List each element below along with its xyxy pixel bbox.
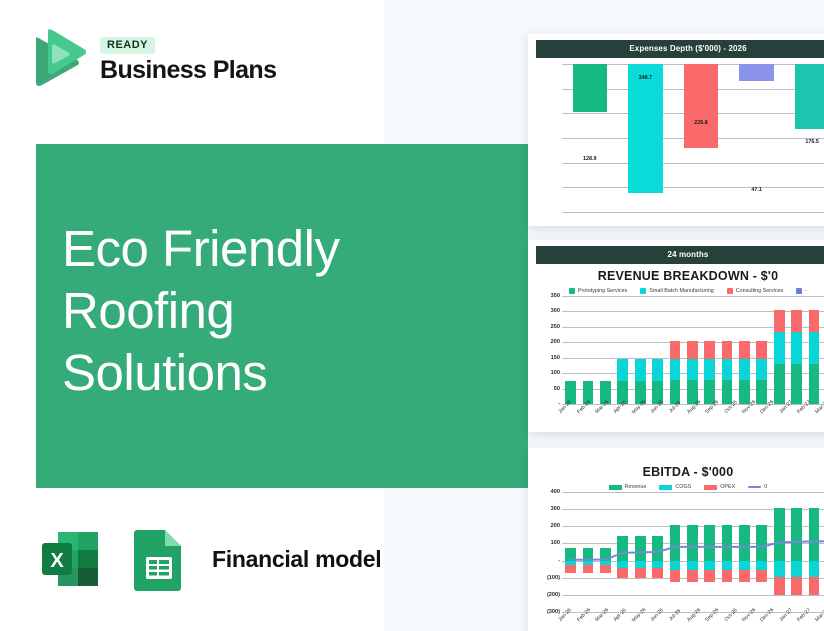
bar-slot[interactable] [701, 296, 718, 404]
play-triangle-logo-icon [26, 28, 86, 92]
bar[interactable] [795, 64, 824, 129]
stacked-bar[interactable] [583, 296, 594, 404]
x-axis-tick: Dec-26 [756, 404, 774, 430]
bar-segment[interactable] [565, 565, 576, 572]
x-axis-tick: Apr-26 [609, 612, 627, 631]
poster-root: READY Business Plans Eco Friendly Roofin… [0, 0, 824, 631]
bar-slot[interactable]: 348.7 [618, 64, 674, 212]
stacked-bar[interactable] [565, 296, 576, 404]
bar-segment[interactable] [635, 561, 646, 568]
bar-value-label: 176.5 [805, 139, 819, 145]
page-title-line-1: Eco Friendly [62, 218, 482, 280]
x-axis-tick: Feb-27 [793, 612, 811, 631]
y-axis-tick: - [558, 558, 560, 564]
y-axis-tick: 150 [551, 355, 560, 361]
bar-segment[interactable] [722, 359, 733, 380]
bar-slot[interactable] [788, 296, 805, 404]
brand-logo-area[interactable]: READY Business Plans [26, 28, 276, 92]
bar[interactable] [628, 64, 662, 193]
stacked-bar[interactable] [635, 296, 646, 404]
y-axis-tick: (200) [547, 592, 560, 598]
bar-group [562, 492, 824, 612]
legend-label: OPEX [720, 484, 735, 490]
legend-item[interactable]: 0 [748, 484, 767, 490]
legend-item[interactable]: - [796, 288, 807, 294]
bar[interactable] [573, 64, 607, 112]
bar-segment[interactable] [687, 525, 698, 560]
bar-segment[interactable] [687, 570, 698, 582]
stacked-bar[interactable] [652, 296, 663, 404]
legend-label: - [805, 288, 807, 294]
chart-title-revenue: REVENUE BREAKDOWN - $'0 [536, 264, 824, 285]
bar-segment[interactable] [774, 561, 785, 577]
x-axis-tick: Apr-26 [609, 404, 627, 430]
bar-segment[interactable] [756, 359, 767, 380]
x-axis-tick: Nov-26 [738, 404, 756, 430]
x-axis-tick: May-26 [628, 404, 646, 430]
y-axis-tick: 350 [551, 293, 560, 299]
gridline [562, 212, 824, 213]
bar-slot[interactable]: 176.5 [784, 64, 824, 212]
y-axis-tick: 250 [551, 324, 560, 330]
chart-xaxis-ebitda: Jan-26Feb-26Mar-26Apr-26May-26Jun-26Jul-… [554, 612, 824, 631]
chart-plot-revenue: 35030025020015010050- [536, 296, 824, 404]
google-sheets-icon[interactable] [124, 524, 194, 594]
bar-slot[interactable] [718, 296, 735, 404]
stacked-bar[interactable] [617, 296, 628, 404]
legend-swatch-icon [727, 288, 733, 294]
chart-plot-ebitda: 400300200100-(100)(200)(300) [536, 492, 824, 612]
bar-segment[interactable] [739, 525, 750, 560]
bar-slot[interactable] [736, 296, 753, 404]
stacked-bar[interactable] [722, 296, 733, 404]
x-axis-tick: Jan-27 [775, 612, 793, 631]
bar-slot[interactable] [718, 492, 735, 612]
bar-segment[interactable] [791, 310, 802, 333]
bar-segment[interactable] [600, 548, 611, 561]
y-axis-tick: 300 [551, 506, 560, 512]
bar-slot[interactable]: 47.1 [729, 64, 785, 212]
x-axis-tick: Feb-26 [572, 612, 590, 631]
bar-segment[interactable] [722, 380, 733, 404]
bar-segment[interactable] [687, 341, 698, 359]
bar-segment[interactable] [791, 364, 802, 404]
bar-segment[interactable] [670, 525, 681, 560]
bar-segment[interactable] [670, 341, 681, 359]
bar-segment[interactable] [722, 525, 733, 560]
bar-segment[interactable] [722, 561, 733, 570]
bar-segment[interactable] [791, 577, 802, 595]
stacked-bar[interactable] [809, 296, 820, 404]
hero-panel: Eco Friendly Roofing Solutions [36, 144, 528, 488]
bar-value-label: 348.7 [639, 75, 653, 81]
bar-segment[interactable] [739, 341, 750, 359]
microsoft-excel-icon[interactable]: X [36, 524, 106, 594]
bar-segment[interactable] [670, 359, 681, 380]
x-axis-tick: Mar-26 [591, 404, 609, 430]
legend-label: Prototyping Services [578, 288, 627, 294]
bar-slot[interactable] [649, 296, 666, 404]
page-title: Eco Friendly Roofing Solutions [62, 218, 482, 404]
bar-slot[interactable] [684, 492, 701, 612]
svg-text:X: X [50, 550, 64, 572]
legend-label: 0 [764, 484, 767, 490]
bar-slot[interactable] [788, 492, 805, 612]
x-axis-tick: Jan-26 [554, 404, 572, 430]
y-axis-tick: 400 [551, 489, 560, 495]
bar-segment[interactable] [791, 561, 802, 577]
bar-segment[interactable] [652, 536, 663, 561]
chart-legend-revenue: Prototyping ServicesSmall Batch Manufact… [536, 285, 824, 296]
chart-legend-ebitda: RevenueCOGSOPEX0 [536, 481, 824, 492]
bar-value-label: 226.8 [694, 120, 708, 126]
bar-segment[interactable] [583, 565, 594, 572]
bar-segment[interactable] [722, 341, 733, 359]
bar-segment[interactable] [739, 380, 750, 404]
bar-segment[interactable] [704, 570, 715, 582]
bar-slot[interactable] [701, 492, 718, 612]
legend-item[interactable]: Consulting Services [727, 288, 784, 294]
bar-segment[interactable] [617, 536, 628, 561]
bar-segment[interactable] [774, 508, 785, 561]
y-axis-tick: 300 [551, 308, 560, 314]
brand-wordmark: READY Business Plans [100, 37, 276, 83]
bar-slot[interactable]: 226.8 [673, 64, 729, 212]
x-axis-tick: Jan-27 [775, 404, 793, 430]
bar-segment[interactable] [635, 536, 646, 561]
brand-name: Business Plans [100, 58, 276, 83]
bar-segment[interactable] [756, 380, 767, 404]
legend-swatch-icon [640, 288, 646, 294]
x-axis-tick: Jun-26 [646, 404, 664, 430]
legend-swatch-icon [704, 485, 717, 490]
footer-row: X Financial model [36, 524, 381, 594]
bar-slot[interactable] [805, 296, 822, 404]
bar-segment[interactable] [809, 577, 820, 595]
legend-label: COGS [675, 484, 691, 490]
bar-segment[interactable] [687, 359, 698, 380]
x-axis-tick: Jul-26 [664, 404, 682, 430]
bar-segment[interactable] [774, 364, 785, 404]
bar-slot[interactable] [614, 492, 631, 612]
y-axis-tick: 100 [551, 540, 560, 546]
page-title-line-3: Solutions [62, 342, 482, 404]
x-axis-tick: Jul-26 [664, 612, 682, 631]
bar-segment[interactable] [791, 332, 802, 364]
bar-segment[interactable] [774, 577, 785, 595]
bar-segment[interactable] [704, 359, 715, 380]
stacked-bar[interactable] [791, 296, 802, 404]
bar-slot[interactable] [805, 492, 822, 612]
bar-segment[interactable] [809, 508, 820, 561]
y-axis-tick: 200 [551, 523, 560, 529]
bar-slot[interactable] [632, 296, 649, 404]
chart-banner-expenses: Expenses Depth ($'000) - 2026 [536, 40, 824, 58]
bar-slot[interactable] [666, 296, 683, 404]
legend-item[interactable]: Revenue [609, 484, 647, 490]
stacked-bar[interactable] [687, 296, 698, 404]
bar-segment[interactable] [617, 359, 628, 380]
x-axis-tick: Mar-26 [591, 612, 609, 631]
bar-group [562, 296, 824, 404]
chart-xaxis-revenue: Jan-26Feb-26Mar-26Apr-26May-26Jun-26Jul-… [554, 404, 824, 430]
bar-slot[interactable] [736, 492, 753, 612]
y-axis-tick: (100) [547, 575, 560, 581]
chart-card-revenue[interactable]: 24 months REVENUE BREAKDOWN - $'0 Protot… [528, 240, 824, 432]
x-axis-tick: Jan-26 [554, 612, 572, 631]
chart-card-ebitda[interactable]: EBITDA - $'000 RevenueCOGSOPEX0 40030020… [528, 448, 824, 631]
bar-slot[interactable] [614, 296, 631, 404]
bar-segment[interactable] [809, 364, 820, 404]
x-axis-tick: Jun-26 [646, 612, 664, 631]
bar-segment[interactable] [704, 525, 715, 560]
chart-title-ebitda: EBITDA - $'000 [536, 460, 824, 481]
x-axis-tick: Dec-26 [756, 612, 774, 631]
bar-segment[interactable] [652, 568, 663, 578]
bar-segment[interactable] [670, 570, 681, 582]
x-axis-tick: May-26 [628, 612, 646, 631]
bar[interactable] [684, 64, 718, 148]
bar-slot[interactable] [753, 492, 770, 612]
bar-segment[interactable] [739, 359, 750, 380]
stacked-bar[interactable] [704, 296, 715, 404]
bar-segment[interactable] [791, 508, 802, 561]
stacked-bar[interactable] [670, 296, 681, 404]
x-axis-tick: Mar-27 [811, 612, 824, 631]
x-axis-tick: Mar-27 [811, 404, 824, 430]
x-axis-tick: Feb-27 [793, 404, 811, 430]
legend-item[interactable]: Small Batch Manufacturing [640, 288, 713, 294]
bar-segment[interactable] [809, 561, 820, 577]
ready-badge: READY [100, 37, 155, 54]
bar-slot[interactable] [579, 492, 596, 612]
bar[interactable] [739, 64, 773, 81]
bar-segment[interactable] [809, 310, 820, 333]
chart-banner-revenue: 24 months [536, 246, 824, 264]
legend-item[interactable]: Prototyping Services [569, 288, 627, 294]
bar-value-label: 128.9 [583, 156, 597, 162]
bar-slot[interactable] [597, 296, 614, 404]
bar-group: 128.9348.7226.847.1176.5 [562, 64, 824, 212]
legend-swatch-icon [609, 485, 622, 490]
x-axis-tick: Oct-26 [719, 404, 737, 430]
y-axis-labels: 35030025020015010050- [536, 296, 562, 404]
bar-value-label: 47.1 [751, 187, 762, 193]
legend-swatch-icon [659, 485, 672, 490]
chart-card-expenses[interactable]: Expenses Depth ($'000) - 2026 128.9348.7… [528, 34, 824, 226]
stacked-bar[interactable] [774, 296, 785, 404]
bar-segment[interactable] [774, 310, 785, 333]
x-axis-tick: Sep-26 [701, 404, 719, 430]
stacked-bar[interactable] [756, 296, 767, 404]
bar-segment[interactable] [670, 561, 681, 570]
bar-segment[interactable] [687, 561, 698, 570]
bar-segment[interactable] [652, 359, 663, 380]
bar-segment[interactable] [756, 341, 767, 359]
bar-segment[interactable] [704, 341, 715, 359]
y-axis-labels [536, 64, 562, 212]
bar-slot[interactable] [562, 492, 579, 612]
bar-segment[interactable] [774, 332, 785, 364]
bar-segment[interactable] [635, 568, 646, 578]
bar-slot[interactable] [579, 296, 596, 404]
legend-item[interactable]: OPEX [704, 484, 735, 490]
y-axis-labels: 400300200100-(100)(200)(300) [536, 492, 562, 612]
bar-slot[interactable] [666, 492, 683, 612]
x-axis-tick: Feb-26 [572, 404, 590, 430]
bar-segment[interactable] [600, 565, 611, 572]
bar-segment[interactable] [756, 570, 767, 582]
chart-plot-expenses: 128.9348.7226.847.1176.5 [536, 64, 824, 212]
bar-segment[interactable] [652, 561, 663, 568]
bar-segment[interactable] [756, 525, 767, 560]
legend-item[interactable]: COGS [659, 484, 691, 490]
bar-segment[interactable] [756, 561, 767, 570]
y-axis-tick: 100 [551, 370, 560, 376]
legend-label: Small Batch Manufacturing [649, 288, 713, 294]
legend-label: Revenue [625, 484, 647, 490]
x-axis-tick: Oct-26 [719, 612, 737, 631]
bar-slot[interactable]: 128.9 [562, 64, 618, 212]
y-axis-tick: 50 [554, 386, 560, 392]
bar-segment[interactable] [704, 561, 715, 570]
legend-swatch-icon [569, 288, 575, 294]
bar-slot[interactable] [562, 296, 579, 404]
bar-slot[interactable] [684, 296, 701, 404]
bar-segment[interactable] [583, 548, 594, 561]
bar-segment[interactable] [739, 570, 750, 582]
bar-slot[interactable] [753, 296, 770, 404]
bar-slot[interactable] [771, 296, 788, 404]
bar-segment[interactable] [617, 561, 628, 568]
legend-swatch-icon [796, 288, 802, 294]
x-axis-tick: Nov-26 [738, 612, 756, 631]
legend-label: Consulting Services [736, 288, 784, 294]
stacked-bar[interactable] [600, 296, 611, 404]
bar-slot[interactable] [597, 492, 614, 612]
bar-slot[interactable] [771, 492, 788, 612]
bar-segment[interactable] [739, 561, 750, 570]
bar-slot[interactable] [649, 492, 666, 612]
financial-model-label: Financial model [212, 546, 381, 573]
stacked-bar[interactable] [739, 296, 750, 404]
bar-segment[interactable] [722, 570, 733, 582]
x-axis-tick: Aug-26 [683, 404, 701, 430]
bar-segment[interactable] [809, 332, 820, 364]
bar-segment[interactable] [617, 568, 628, 578]
y-axis-tick: 200 [551, 339, 560, 345]
x-axis-tick: Aug-26 [683, 612, 701, 631]
page-title-line-2: Roofing [62, 280, 482, 342]
bar-segment[interactable] [565, 548, 576, 561]
bar-segment[interactable] [635, 359, 646, 380]
legend-swatch-icon [748, 486, 761, 488]
x-axis-tick: Sep-26 [701, 612, 719, 631]
bar-slot[interactable] [632, 492, 649, 612]
